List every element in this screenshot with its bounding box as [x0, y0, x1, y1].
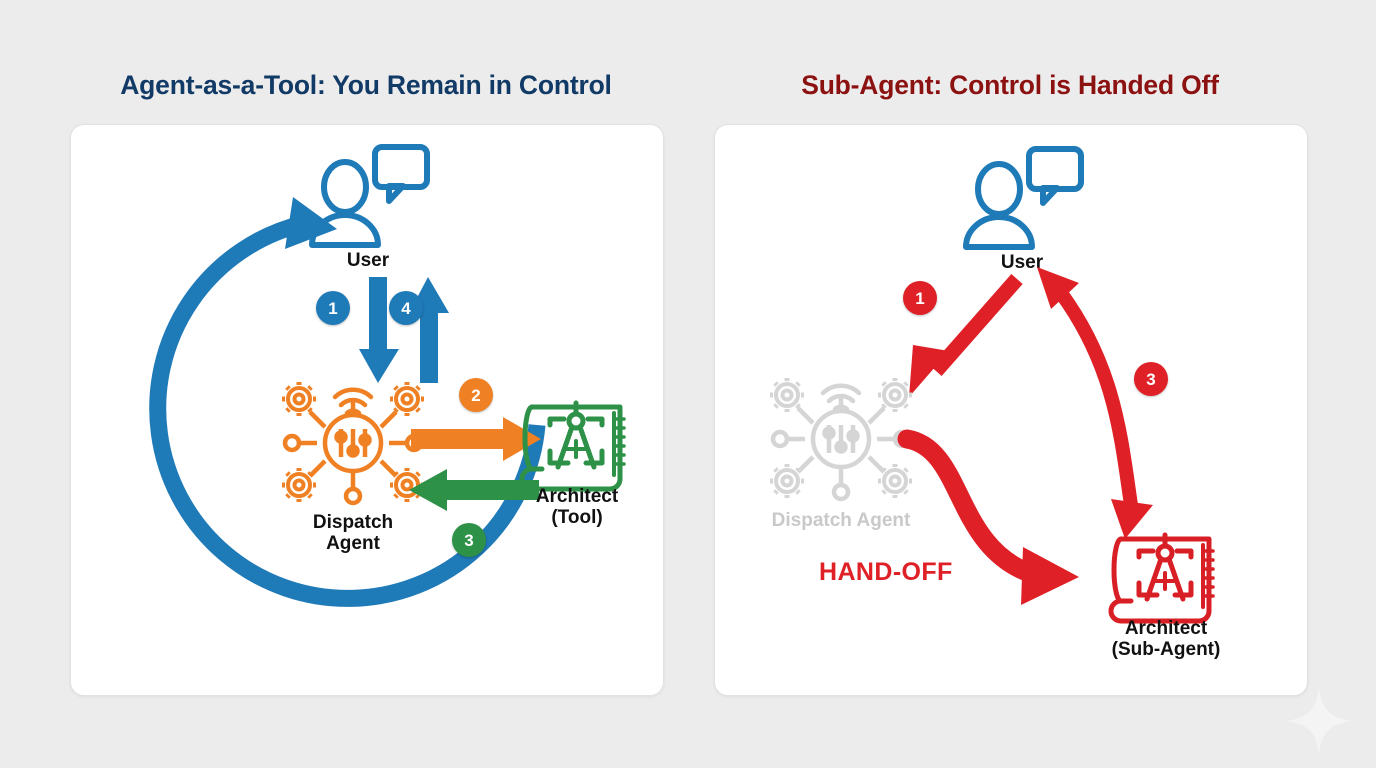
user-with-speech-bubble-icon [957, 141, 1087, 253]
node-label-architect: Architect (Tool) [496, 487, 658, 528]
node-user [303, 139, 433, 251]
panel-title-sub-agent: Sub-Agent: Control is Handed Off [714, 72, 1306, 99]
node-user [957, 141, 1087, 253]
flow-badge-1: 1 [316, 291, 350, 325]
node-label-architect: Architect (Sub-Agent) [1075, 619, 1257, 660]
panel-title-agent-as-a-tool: Agent-as-a-Tool: You Remain in Control [70, 72, 662, 99]
architect-blueprint-icon [516, 393, 636, 501]
panel-agent-as-a-tool: User 1 4 [70, 124, 664, 696]
sparkle-icon [1284, 686, 1354, 756]
node-architect [1105, 525, 1225, 633]
node-dispatch-agent [277, 377, 429, 509]
panel-sub-agent: User 1 [714, 124, 1308, 696]
flow-arrow-3-double-headed [1029, 255, 1179, 545]
node-label-user: User [285, 251, 451, 272]
node-architect [516, 393, 636, 501]
user-with-speech-bubble-icon [303, 139, 433, 251]
flow-badge-3: 3 [1134, 362, 1168, 396]
diagram-canvas: Agent-as-a-Tool: You Remain in Control S… [0, 0, 1376, 768]
architect-blueprint-icon [1105, 525, 1225, 633]
node-label-dispatch-agent: Dispatch Agent [267, 513, 439, 554]
dispatch-agent-hub-icon [277, 377, 429, 509]
flow-badge-2: 2 [459, 378, 493, 412]
handoff-label: HAND-OFF [819, 558, 953, 587]
flow-badge-4: 4 [389, 291, 423, 325]
flow-badge-3: 3 [452, 523, 486, 557]
flow-badge-1: 1 [903, 281, 937, 315]
